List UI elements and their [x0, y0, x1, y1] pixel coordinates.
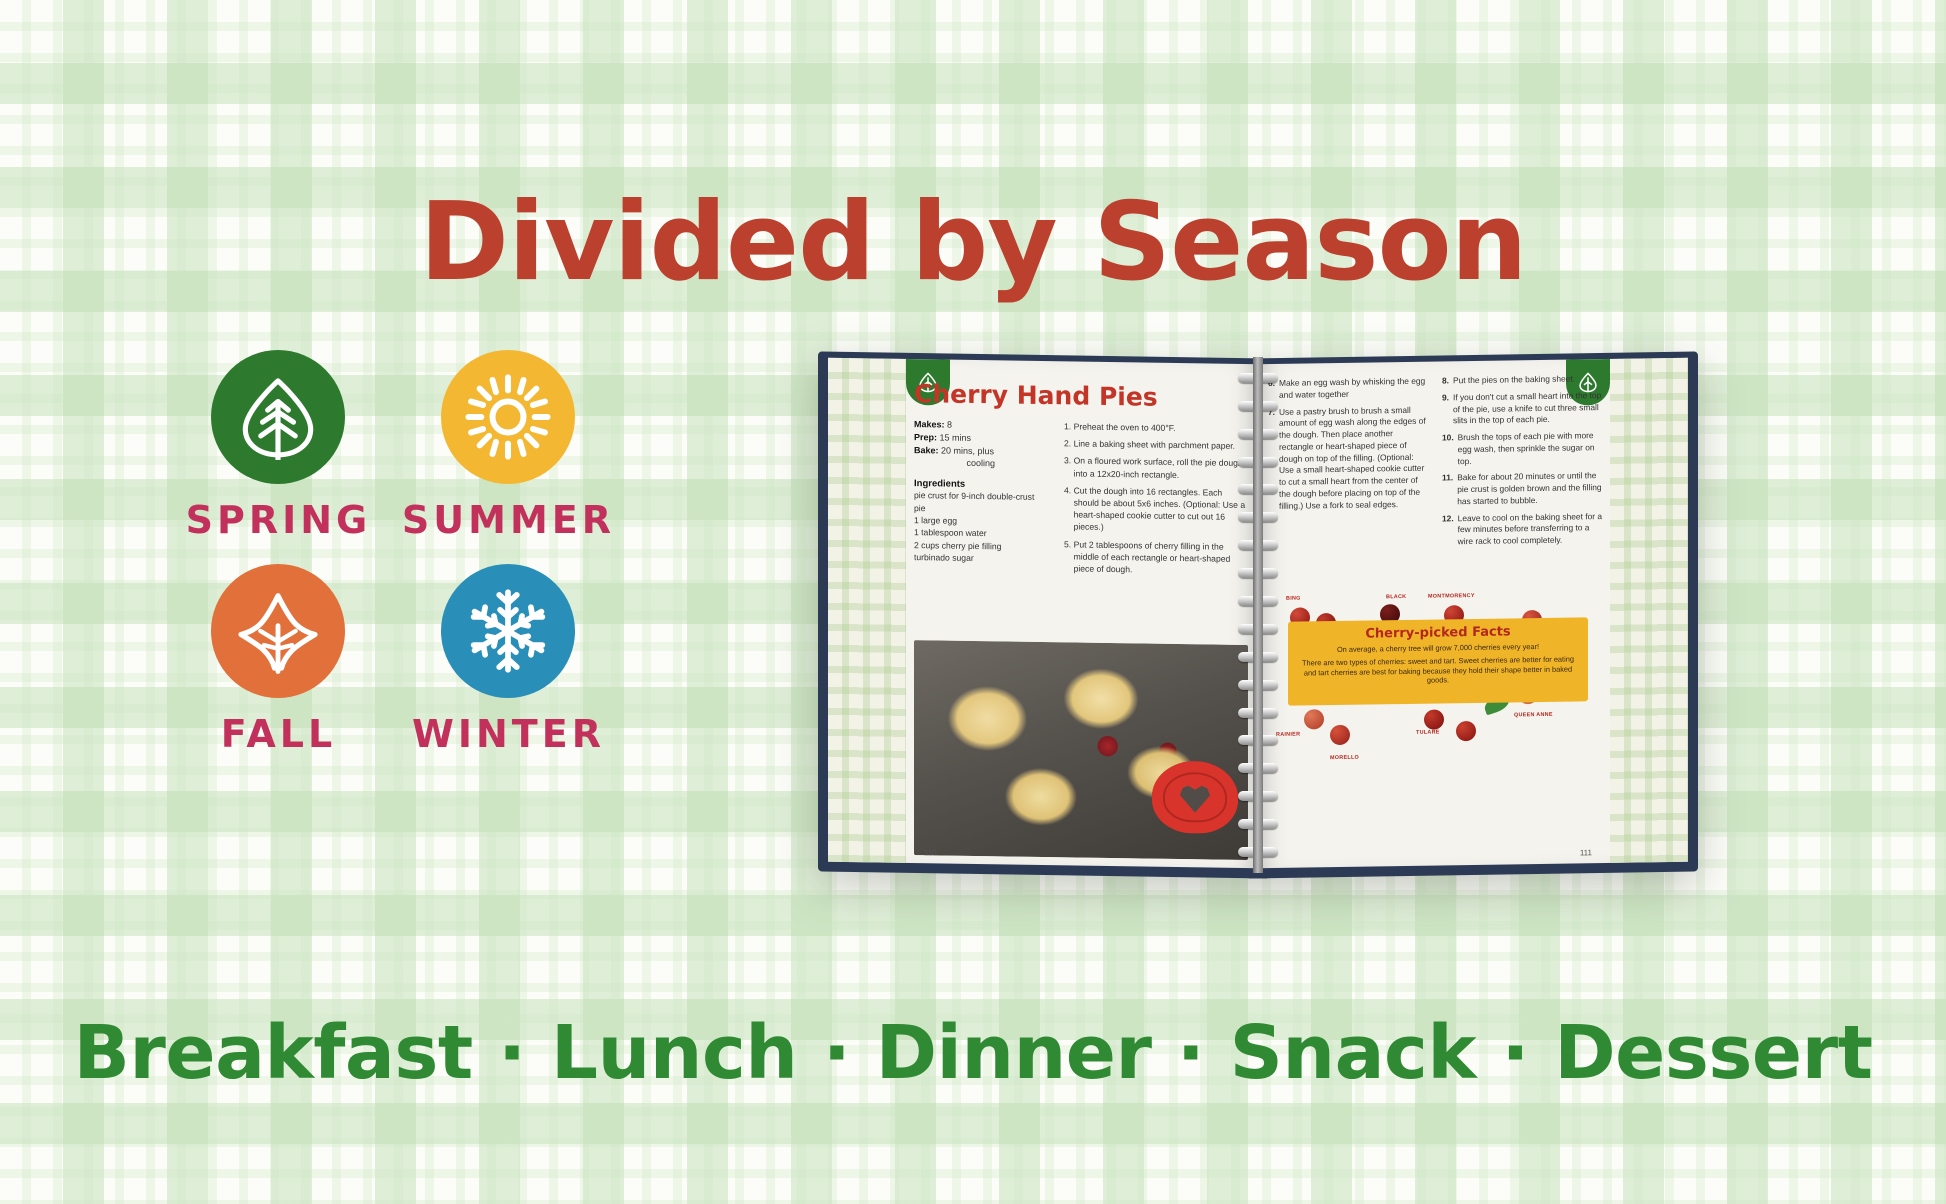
- cherry-label: MONTMORENCY: [1428, 593, 1475, 600]
- cherry-graphic: [1424, 709, 1444, 729]
- recipe-step: Line a baking sheet with parchment paper…: [1074, 438, 1248, 453]
- meta-label-makes: Makes:: [914, 419, 945, 429]
- step-text: Bake for about 20 minutes or until the p…: [1457, 470, 1602, 507]
- season-label-winter: WINTER: [412, 712, 605, 756]
- meta-value-makes: 8: [947, 420, 952, 430]
- summer-badge: [441, 350, 575, 484]
- step-text: Brush the tops of each pie with more egg…: [1458, 430, 1602, 467]
- winter-badge: [441, 564, 575, 698]
- book-page-left: Cherry Hand Pies Makes: 8 Prep: 15 mins …: [828, 358, 1260, 868]
- facts-title: Cherry-picked Facts: [1298, 623, 1578, 642]
- step-text: Make an egg wash by whisking the egg and…: [1279, 376, 1428, 402]
- step-number: 12.: [1442, 513, 1454, 548]
- leaf-icon: [235, 374, 321, 460]
- right-page-content: 6. Make an egg wash by whisking the egg …: [1268, 373, 1602, 858]
- page-number-right: 111: [1580, 848, 1592, 857]
- step-text: Leave to cool on the baking sheet for a …: [1458, 511, 1602, 548]
- step-text: Use a pastry brush to brush a small amou…: [1279, 404, 1428, 512]
- recipe-step: 12. Leave to cool on the baking sheet fo…: [1442, 511, 1602, 549]
- season-item-spring[interactable]: SPRING: [185, 350, 372, 542]
- cherry-graphic: [1330, 725, 1350, 745]
- meal-categories-tagline: Breakfast · Lunch · Dinner · Snack · Des…: [0, 1010, 1946, 1096]
- cherry-graphic: [1456, 721, 1476, 741]
- snowflake-icon: [464, 587, 552, 675]
- season-item-winter[interactable]: WINTER: [402, 564, 615, 756]
- step-number: 8.: [1442, 375, 1449, 387]
- spring-badge: [211, 350, 345, 484]
- cherry-picked-facts-box: Cherry-picked Facts On average, a cherry…: [1288, 617, 1588, 705]
- facts-paragraph: On average, a cherry tree will grow 7,00…: [1298, 641, 1578, 655]
- meta-value-prep: 15 mins: [940, 432, 972, 442]
- cookbook-spread: Cherry Hand Pies Makes: 8 Prep: 15 mins …: [818, 355, 1698, 875]
- meta-label-prep: Prep:: [914, 432, 937, 442]
- cherry-illustration-area: BING BLACK MONTMORENCY RAINIER MORELLO T…: [1268, 587, 1602, 850]
- season-item-fall[interactable]: FALL: [185, 564, 372, 756]
- recipe-step: 6. Make an egg wash by whisking the egg …: [1268, 376, 1428, 402]
- meta-value-bake: 20 mins, plus: [941, 445, 994, 456]
- recipe-step: Preheat the oven to 400°F.: [1074, 420, 1248, 435]
- cherry-label: BLACK: [1386, 594, 1406, 600]
- page-gingham-margin: [1610, 358, 1688, 863]
- page-title: Divided by Season: [0, 180, 1946, 305]
- step-number: 9.: [1442, 392, 1449, 427]
- step-number: 11.: [1442, 473, 1453, 508]
- season-label-fall: FALL: [221, 712, 336, 756]
- cherry-label: TULARE: [1416, 729, 1440, 735]
- recipe-step: Cut the dough into 16 rectangles. Each s…: [1074, 484, 1248, 535]
- recipe-meta: Makes: 8 Prep: 15 mins Bake: 20 mins, pl…: [914, 418, 1048, 471]
- ingredient-item: pie crust for 9-inch double-crust pie: [914, 489, 1048, 516]
- step-number: 10.: [1442, 432, 1454, 467]
- cherry-label: QUEEN ANNE: [1514, 712, 1553, 719]
- recipe-step: Put 2 tablespoons of cherry filling in t…: [1074, 538, 1248, 577]
- season-item-summer[interactable]: SUMMER: [402, 350, 615, 542]
- season-label-spring: SPRING: [186, 498, 372, 542]
- meta-value-bake-cont: cooling: [914, 456, 1048, 471]
- fall-badge: [211, 564, 345, 698]
- cherry-graphic: [1304, 709, 1324, 729]
- recipe-step: 9. If you don't cut a small heart into t…: [1442, 390, 1602, 428]
- page-number-left: 110: [924, 848, 937, 857]
- season-icon-grid: SPRING: [185, 350, 615, 756]
- step-text: If you don't cut a small heart into the …: [1453, 390, 1602, 428]
- recipe-step: 8. Put the pies on the baking sheet.: [1442, 373, 1602, 387]
- heart-cookie-cutter: [1152, 761, 1238, 834]
- recipe-step: On a floured work surface, roll the pie …: [1074, 455, 1248, 482]
- ingredient-item: turbinado sugar: [914, 551, 1048, 565]
- book-spine: [1253, 357, 1263, 873]
- recipe-step: 11. Bake for about 20 minutes or until t…: [1442, 470, 1602, 508]
- recipe-steps-left: Preheat the oven to 400°F. Line a baking…: [1060, 420, 1248, 577]
- recipe-step: 10. Brush the tops of each pie with more…: [1442, 430, 1602, 468]
- cherry-label: MORELLO: [1330, 755, 1359, 761]
- recipe-title: Cherry Hand Pies: [914, 379, 1248, 413]
- season-label-summer: SUMMER: [402, 498, 615, 542]
- cherry-label: BING: [1286, 596, 1301, 602]
- step-text: Put the pies on the baking sheet.: [1453, 373, 1575, 387]
- recipe-step: 7. Use a pastry brush to brush a small a…: [1268, 404, 1428, 512]
- book-page-right: 6. Make an egg wash by whisking the egg …: [1256, 358, 1688, 868]
- sun-icon: [465, 374, 551, 460]
- meta-label-bake: Bake:: [914, 445, 939, 455]
- maple-leaf-icon: [234, 587, 322, 675]
- facts-paragraph: There are two types of cherries: sweet a…: [1298, 654, 1578, 687]
- hand-pies-photo: [914, 640, 1248, 860]
- page-gingham-margin: [828, 358, 906, 863]
